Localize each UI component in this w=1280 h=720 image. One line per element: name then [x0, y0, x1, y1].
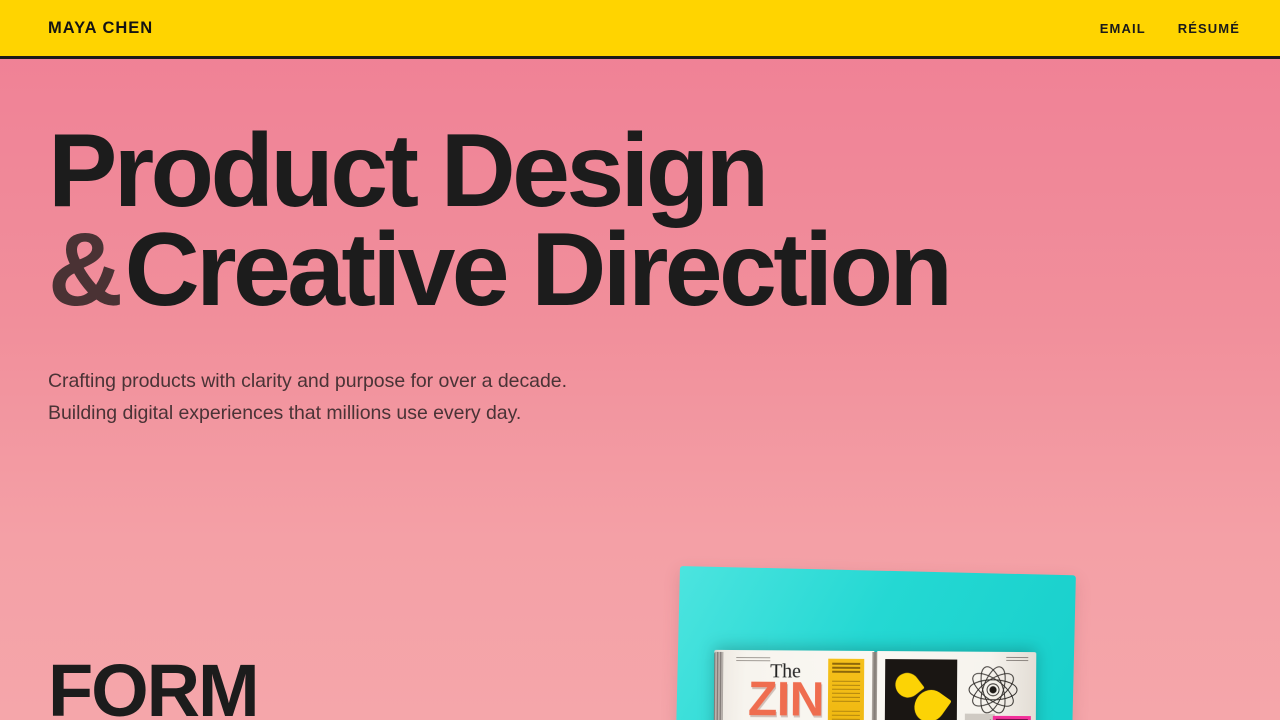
nav-link-email[interactable]: EMAIL — [1100, 21, 1146, 36]
zine-title-word: ZIN — [748, 676, 824, 720]
hero-subtitle-line-2: Building digital experiences that millio… — [48, 397, 1280, 429]
hero-subtitle-line-1: Crafting products with clarity and purpo… — [48, 365, 1280, 397]
page-folio-text — [1006, 657, 1028, 663]
book-left-page: The ZIN — [714, 650, 875, 720]
headline-line-2: &Creative Direction — [48, 221, 1280, 320]
yellow-sidebar-column — [828, 659, 865, 720]
main-nav: EMAIL RÉSUMÉ — [1100, 21, 1240, 36]
page-title: Product Design &Creative Direction — [48, 122, 1280, 321]
site-header: MAYA CHEN EMAIL RÉSUMÉ — [0, 0, 1280, 59]
page-root: MAYA CHEN EMAIL RÉSUMÉ Product Design &C… — [0, 0, 1280, 720]
kicker-text-block — [736, 657, 770, 663]
hero-subtitle: Crafting products with clarity and purpo… — [48, 365, 1280, 429]
sidebar-body-lines-1 — [832, 681, 860, 703]
page-edge-stack — [714, 652, 724, 720]
hero-section: Product Design &Creative Direction Craft… — [0, 59, 1280, 429]
section-heading-form: FORM — [48, 654, 258, 720]
headline-line-2-text: Creative Direction — [125, 212, 950, 328]
brand-logo[interactable]: MAYA CHEN — [48, 19, 153, 38]
ampersand-glyph: & — [48, 212, 121, 328]
open-book: The ZIN — [714, 650, 1037, 720]
sidebar-body-lines-2 — [832, 711, 860, 720]
black-art-panel — [885, 659, 958, 720]
nav-link-resume[interactable]: RÉSUMÉ — [1178, 21, 1240, 36]
atom-diagram-icon — [967, 664, 1019, 716]
magenta-sticker-note — [993, 716, 1031, 720]
sidebar-heading-lines — [832, 663, 860, 675]
book-right-page — [877, 651, 1037, 720]
magazine-photo: The ZIN — [672, 558, 1084, 720]
headline-line-1: Product Design — [48, 122, 1280, 221]
